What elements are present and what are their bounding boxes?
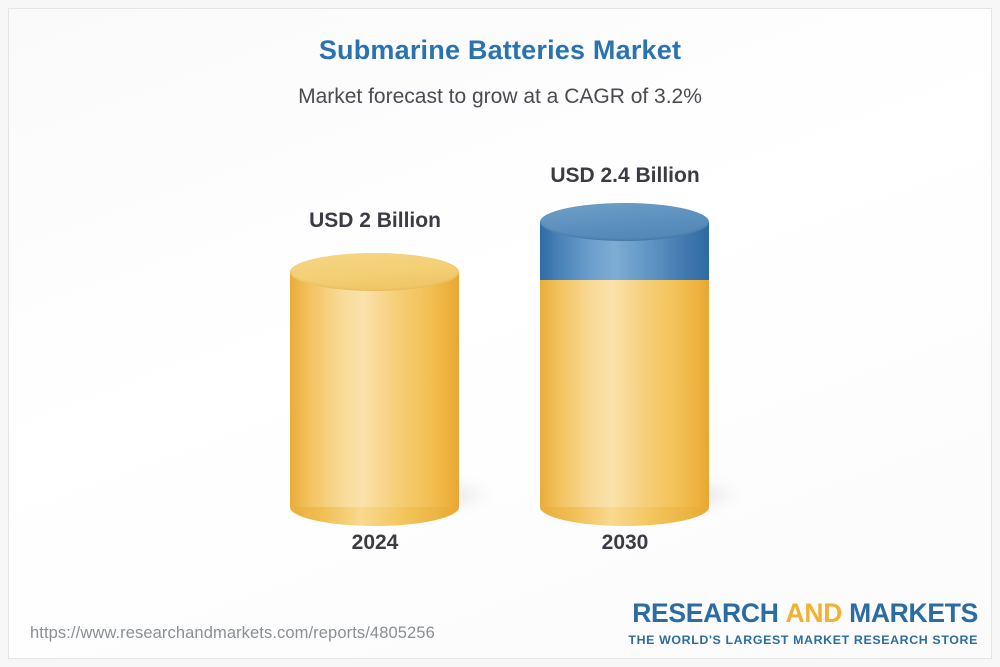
logo-word-research: RESEARCH — [632, 598, 778, 628]
logo-word-and: AND — [779, 598, 850, 628]
research-and-markets-logo[interactable]: RESEARCHANDMARKETS THE WORLD'S LARGEST M… — [628, 600, 978, 646]
category-label-2030: 2030 — [475, 531, 775, 555]
bar-2024-top-cap — [290, 253, 459, 291]
value-label-2030: USD 2.4 Billion — [475, 164, 775, 188]
logo-wordmark: RESEARCHANDMARKETS — [628, 600, 978, 627]
bar-2030-body-base — [540, 278, 709, 507]
bar-2024-body — [290, 272, 459, 507]
infographic-root: Submarine Batteries Market Market foreca… — [0, 0, 1000, 667]
report-url-link[interactable]: https://www.researchandmarkets.com/repor… — [30, 624, 435, 643]
logo-word-markets: MARKETS — [849, 598, 978, 628]
bar-2030-top-cap — [540, 203, 709, 241]
logo-tagline: THE WORLD'S LARGEST MARKET RESEARCH STOR… — [628, 634, 978, 646]
chart-plot-area: USD 2 Billion 2024 USD 2.4 Billion — [0, 0, 1000, 667]
value-label-2024: USD 2 Billion — [225, 209, 525, 233]
